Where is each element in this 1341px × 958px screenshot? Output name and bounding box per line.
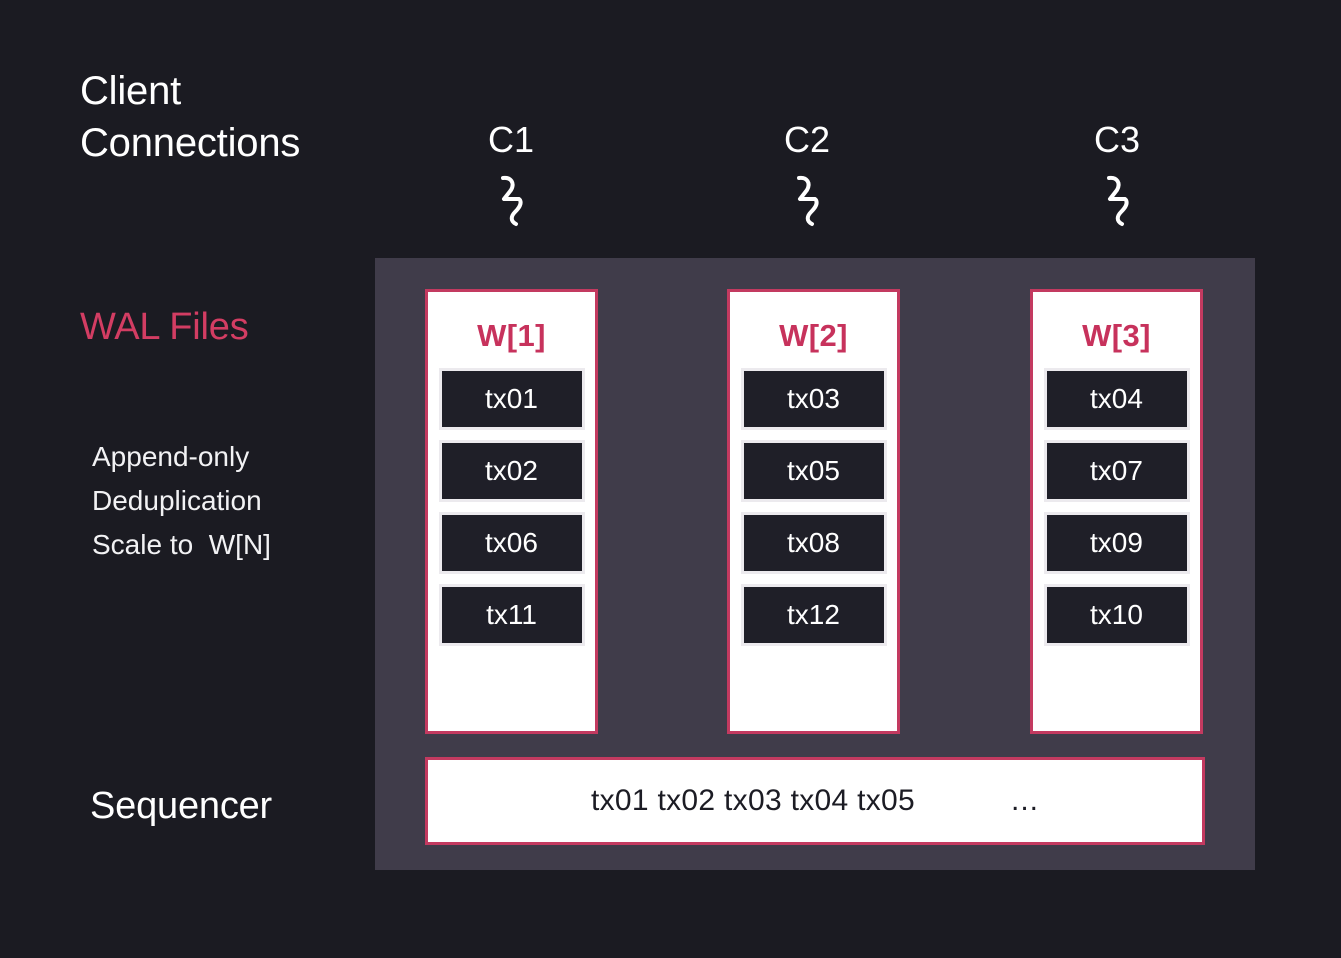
transaction-list-w1: tx01 tx02 tx06 tx11: [428, 368, 595, 656]
transaction-box: tx06: [439, 512, 585, 574]
sequencer-ellipsis: ...: [1011, 784, 1039, 818]
transaction-list-w3: tx04 tx07 tx09 tx10: [1033, 368, 1200, 656]
transaction-box: tx10: [1044, 584, 1190, 646]
squiggle-connector-icon: [1037, 174, 1197, 230]
client-connections-label: Client Connections: [80, 65, 300, 169]
wal-file-card-w3: W[3] tx04 tx07 tx09 tx10: [1030, 289, 1203, 734]
transaction-box: tx09: [1044, 512, 1190, 574]
transaction-box: tx01: [439, 368, 585, 430]
wal-file-title-w2: W[2]: [779, 318, 848, 354]
transaction-box: tx02: [439, 440, 585, 502]
sequencer-bar: tx01 tx02 tx03 tx04 tx05 ...: [425, 757, 1205, 845]
wal-file-card-w1: W[1] tx01 tx02 tx06 tx11: [425, 289, 598, 734]
sequencer-sequence-text: tx01 tx02 tx03 tx04 tx05: [591, 784, 915, 818]
client-connection-c2: C2: [727, 118, 887, 230]
transaction-box: tx11: [439, 584, 585, 646]
transaction-box: tx12: [741, 584, 887, 646]
transaction-box: tx05: [741, 440, 887, 502]
wal-file-title-w1: W[1]: [477, 318, 546, 354]
client-connection-c1: C1: [431, 118, 591, 230]
client-connection-c1-label: C1: [431, 118, 591, 162]
transaction-box: tx08: [741, 512, 887, 574]
client-connection-c3: C3: [1037, 118, 1197, 230]
squiggle-connector-icon: [727, 174, 887, 230]
squiggle-connector-icon: [431, 174, 591, 230]
wal-file-title-w3: W[3]: [1082, 318, 1151, 354]
client-connection-c2-label: C2: [727, 118, 887, 162]
transaction-box: tx07: [1044, 440, 1190, 502]
transaction-box: tx04: [1044, 368, 1190, 430]
transaction-box: tx03: [741, 368, 887, 430]
transaction-list-w2: tx03 tx05 tx08 tx12: [730, 368, 897, 656]
sequencer-label: Sequencer: [90, 782, 272, 830]
wal-properties-notes: Append-only Deduplication Scale to W[N]: [92, 435, 271, 567]
note-scale: Scale to W[N]: [92, 523, 271, 567]
client-connection-c3-label: C3: [1037, 118, 1197, 162]
wal-file-card-w2: W[2] tx03 tx05 tx08 tx12: [727, 289, 900, 734]
wal-files-label: WAL Files: [80, 303, 249, 351]
note-deduplication: Deduplication: [92, 479, 271, 523]
note-append-only: Append-only: [92, 435, 271, 479]
wal-architecture-diagram: Client Connections WAL Files Append-only…: [0, 0, 1341, 958]
